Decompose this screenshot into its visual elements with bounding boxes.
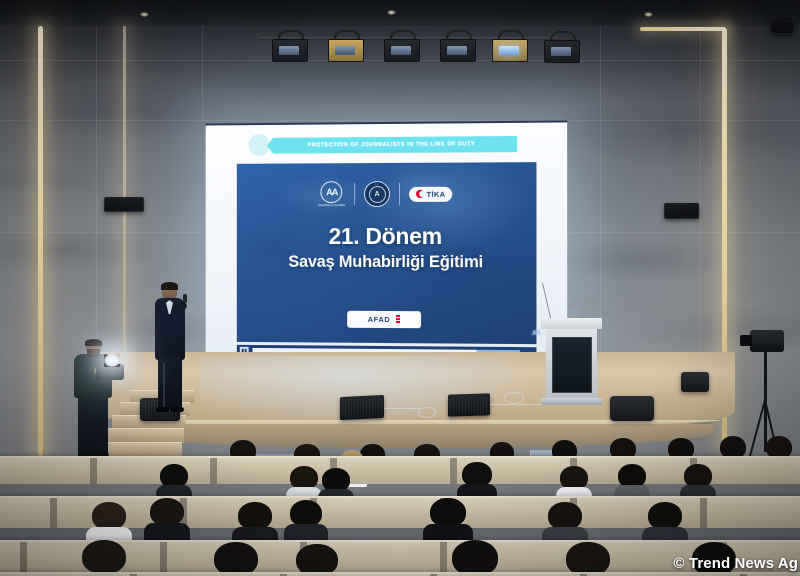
broadcast-camera-body	[750, 330, 784, 352]
cable-coil	[418, 407, 436, 418]
podium-top	[541, 318, 602, 329]
ceiling-downlight	[140, 12, 149, 17]
presenter-shoe	[171, 407, 184, 412]
tika-logo: TİKA	[409, 186, 452, 201]
audience-member	[566, 542, 610, 576]
podium-base	[541, 398, 602, 405]
slide-logo-row: AA ANADOLU AJANSI T.C. A TİKA	[237, 178, 537, 209]
ceiling-downlight	[387, 10, 396, 15]
videographer-beard	[87, 349, 100, 357]
audience-member	[214, 542, 258, 576]
wall-speaker	[664, 203, 699, 219]
cable	[490, 404, 542, 405]
ceiling-downlight	[644, 12, 653, 17]
stage-light	[492, 30, 526, 60]
ceiling	[0, 0, 800, 26]
copyright-icon: ©	[673, 555, 684, 572]
wall-seam	[202, 26, 203, 122]
slide-title: 21. Dönem	[237, 223, 537, 250]
logo-divider	[399, 183, 400, 205]
audience-member	[452, 540, 498, 576]
stage-light	[544, 31, 578, 61]
slide-ribbon-banner: PROTECTION OF JOURNALISTS IN THE LINE OF…	[267, 136, 517, 154]
presenter-trousers	[158, 357, 182, 409]
podium-display-panel	[552, 337, 592, 393]
projection-screen: PROTECTION OF JOURNALISTS IN THE LINE OF…	[206, 120, 567, 357]
wall-light-strip	[38, 26, 43, 456]
crescent-icon	[416, 190, 424, 198]
wall-speaker	[104, 197, 144, 212]
afad-wordmark: AFAD	[368, 315, 391, 324]
stage-monitor-right	[448, 393, 490, 416]
podium-logo: AA	[532, 330, 540, 337]
stage-monitor-left	[340, 395, 384, 420]
stage-light	[272, 30, 306, 60]
slide-ribbon-text: PROTECTION OF JOURNALISTS IN THE LINE OF…	[308, 141, 475, 148]
aa-caption: ANADOLU AJANSI	[318, 204, 345, 207]
afad-logo: AFAD	[347, 311, 421, 328]
wall-speaker	[770, 16, 794, 34]
anadolu-ajansi-logo: AA ANADOLU AJANSI	[318, 181, 345, 207]
seat-row	[0, 456, 800, 484]
seat-row	[0, 572, 800, 576]
cable-coil-right	[504, 392, 524, 404]
slide-subtitle: Savaş Muhabirliği Eğitimi	[237, 253, 537, 273]
stage-light	[384, 30, 418, 60]
podium: AA	[541, 318, 602, 404]
emblem-monogram: A	[369, 185, 386, 202]
audience-member	[82, 540, 126, 576]
microphone-icon	[183, 294, 187, 303]
stage-light	[440, 30, 474, 60]
audience-member	[150, 498, 184, 544]
stage-light	[328, 30, 362, 60]
watermark-text: Trend News Ag	[689, 555, 798, 572]
academy-emblem-logo: T.C. A	[364, 181, 390, 207]
watermark: © Trend News Ag	[673, 555, 798, 572]
wall-seam	[600, 26, 601, 356]
equipment-bag	[610, 396, 654, 421]
presenter-shoe	[156, 407, 169, 412]
presenter-hair	[161, 282, 178, 290]
slide-decor-circle	[249, 134, 271, 156]
auditorium-photo: PROTECTION OF JOURNALISTS IN THE LINE OF…	[0, 0, 800, 576]
presenter-on-stage	[152, 283, 192, 413]
afad-flag-mark	[396, 315, 400, 324]
wall-seam	[700, 26, 701, 356]
emblem-caption: T.C.	[375, 184, 379, 186]
cable	[384, 408, 420, 409]
tika-wordmark: TİKA	[427, 189, 446, 198]
slide-blue-panel: AA ANADOLU AJANSI T.C. A TİKA 21. Dönem …	[237, 162, 537, 344]
logo-divider	[354, 183, 355, 205]
wall-seam	[0, 120, 800, 121]
presenter-leg-split	[163, 363, 165, 407]
wall-light-strip	[640, 27, 726, 31]
camera-lens	[740, 335, 752, 346]
camera-light	[104, 354, 120, 367]
aa-monogram: AA	[321, 181, 343, 203]
equipment-bag-2	[681, 372, 709, 392]
videographer-hair	[85, 339, 102, 346]
